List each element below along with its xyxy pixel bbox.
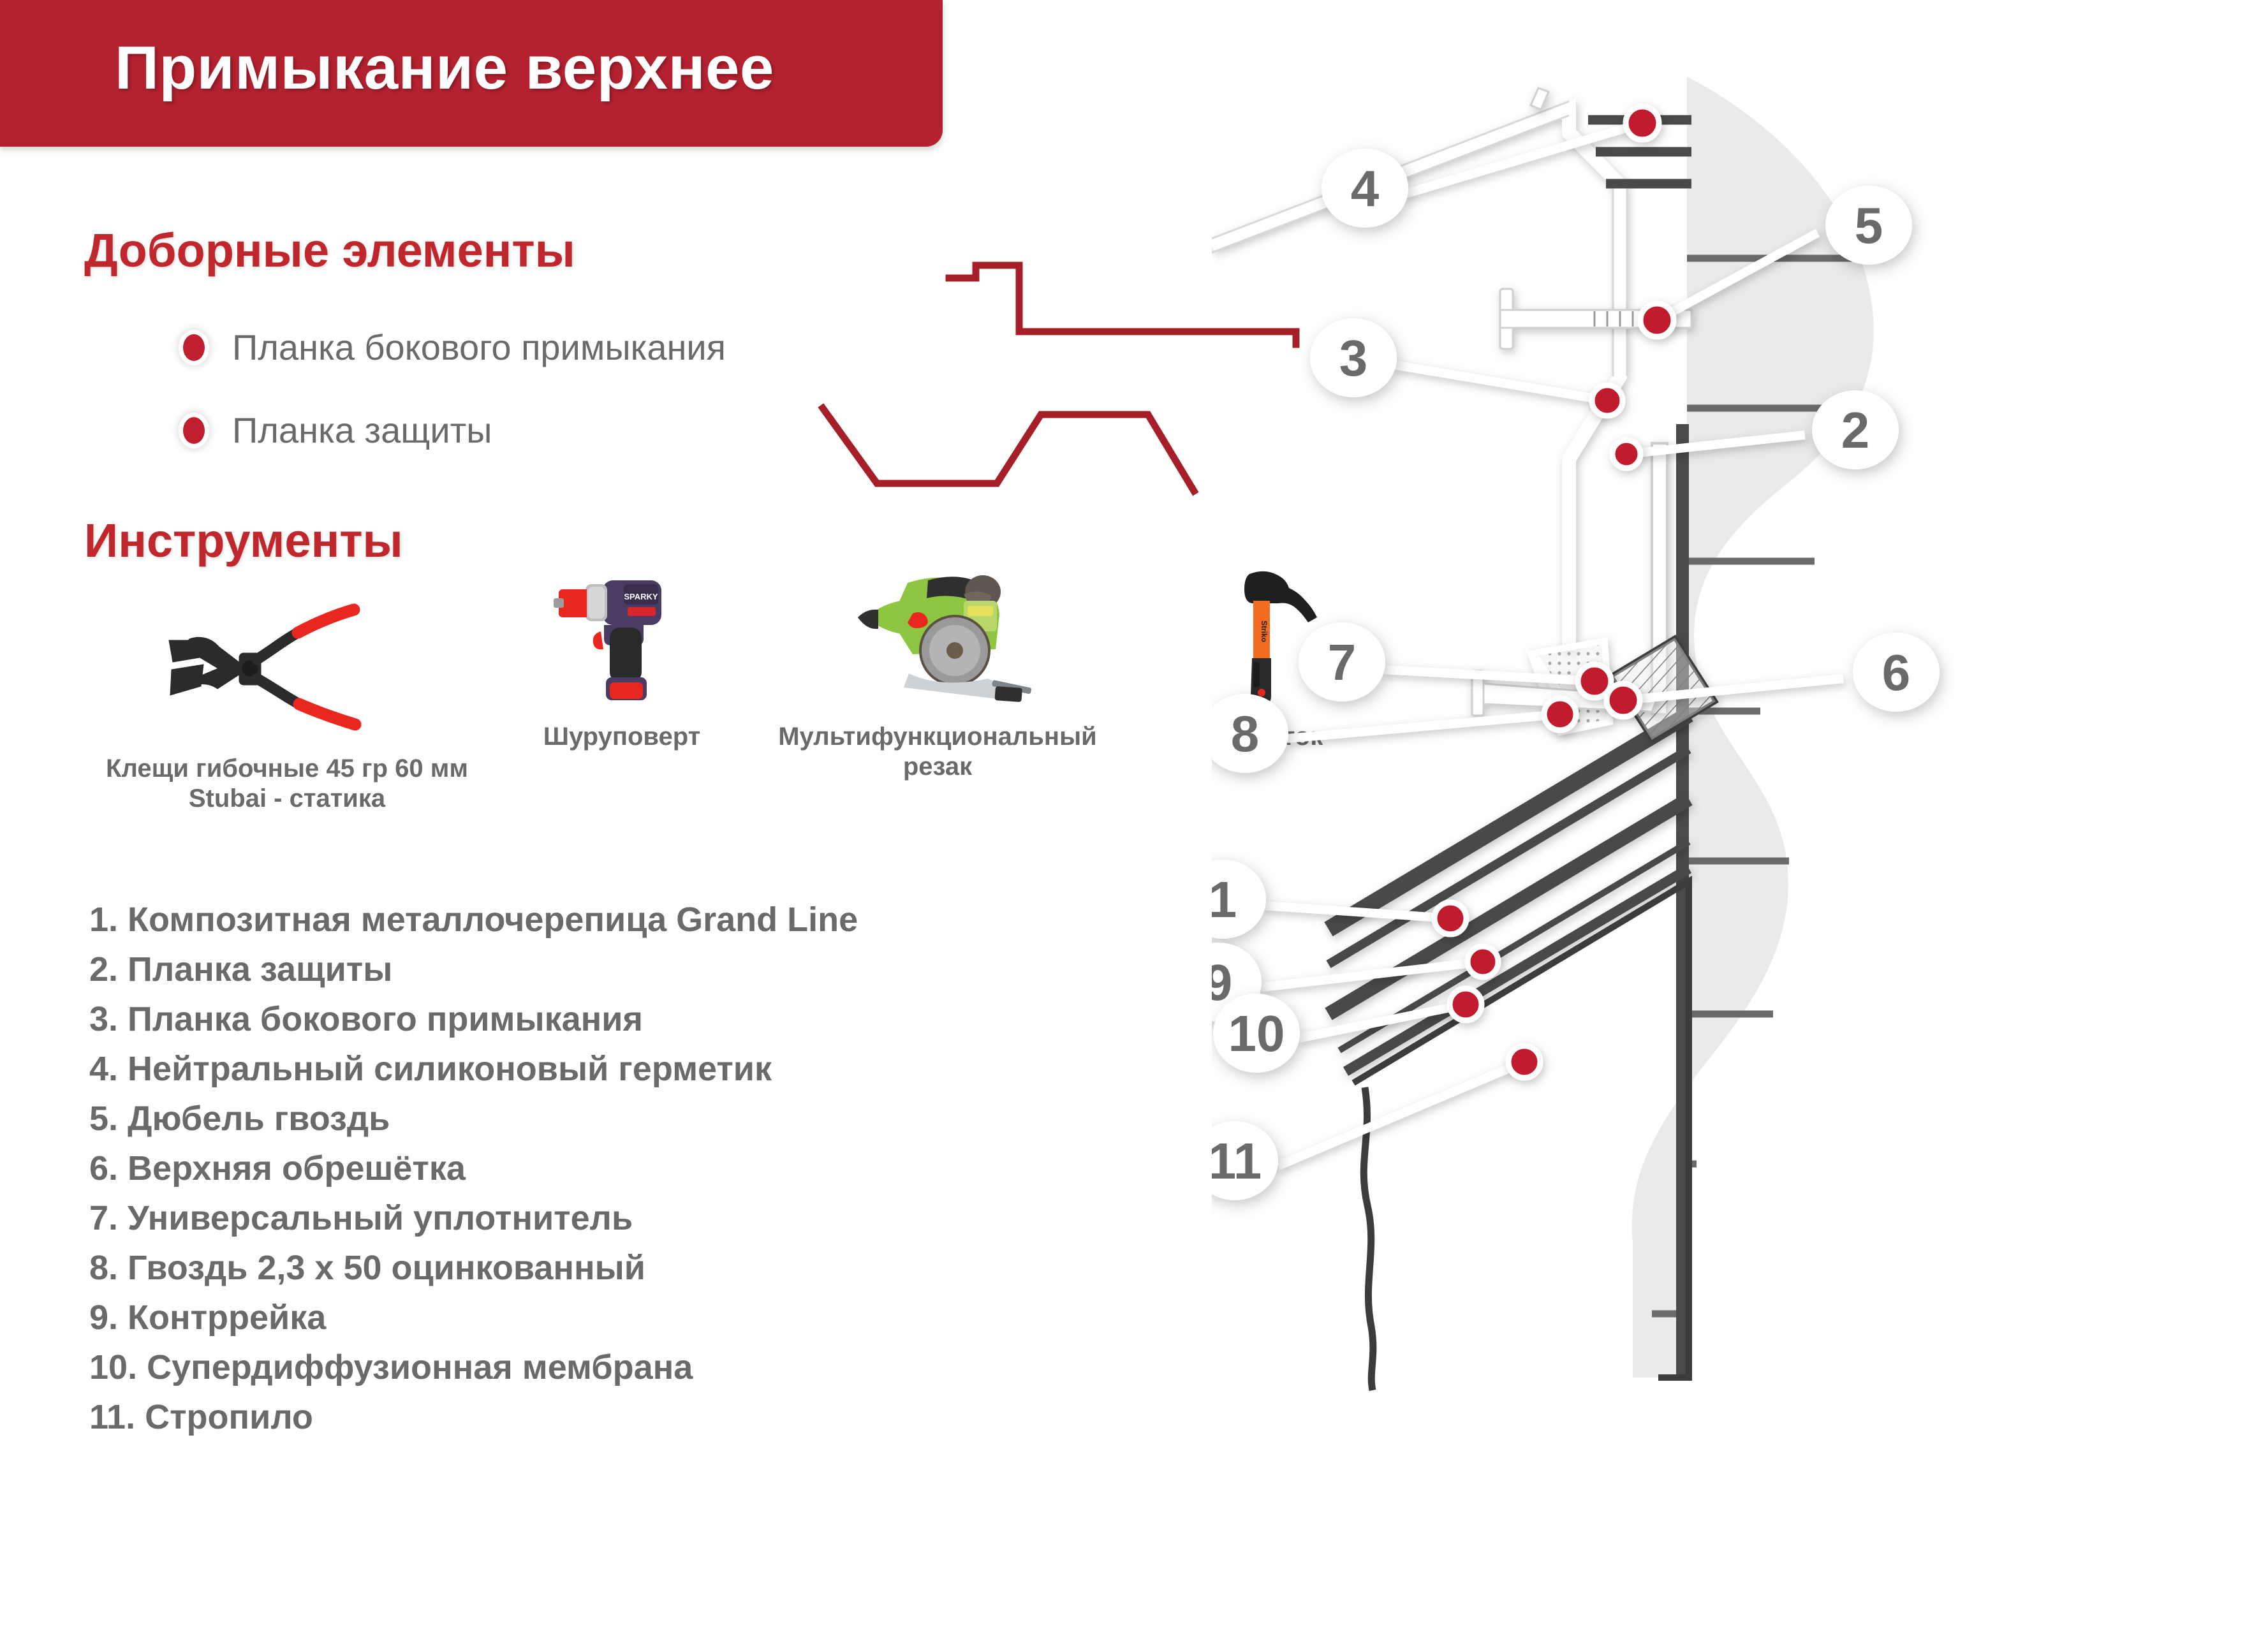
red-bullet-icon: [179, 413, 209, 448]
legend-item: 3. Планка бокового примыкания: [89, 1002, 858, 1036]
callout-number: 4: [1351, 160, 1380, 217]
callout-dot-11: [1508, 1046, 1540, 1078]
callout-dot-1: [1434, 902, 1466, 934]
tool-caption: Шуруповерт: [517, 722, 727, 752]
red-bullet-icon: [179, 330, 209, 365]
tool-card-2: Мультифункциональный резак: [740, 561, 1135, 782]
legend-item: 5. Дюбель гвоздь: [89, 1101, 858, 1136]
callout-6[interactable]: 6: [1853, 633, 1940, 712]
callout-number: 5: [1855, 197, 1883, 254]
callout-4[interactable]: 4: [1322, 149, 1408, 228]
cordless-drill-icon: SPARKY: [517, 561, 727, 708]
callout-5[interactable]: 5: [1825, 186, 1912, 265]
legend-item: 10. Супердиффузионная мембрана: [89, 1350, 858, 1385]
tool-caption: Мультифункциональный резак: [740, 722, 1135, 782]
tool-caption: Клещи гибочные 45 гр 60 мм Stubai - стат…: [64, 754, 510, 814]
callout-number: 3: [1339, 330, 1368, 386]
svg-text:SPARKY: SPARKY: [624, 592, 658, 601]
layer-metal-tile-under: [1329, 749, 1689, 964]
tool-caption-line2: Stubai - статика: [64, 784, 510, 814]
bending-pliers-icon: [64, 593, 510, 740]
callout-dot-8: [1544, 698, 1576, 730]
tool-caption-line1: Мультифункциональный: [740, 722, 1135, 752]
callout-dot-6: [1607, 684, 1640, 717]
dobor-item-label: Планка бокового примыкания: [232, 327, 726, 368]
callout-11[interactable]: 11: [1212, 1121, 1278, 1200]
legend-item: 2. Планка защиты: [89, 952, 858, 987]
section-heading-dobornye-elementy: Доборные элементы: [84, 223, 575, 277]
callout-8[interactable]: 8: [1212, 694, 1288, 773]
callout-number: 9: [1212, 954, 1232, 1011]
legend-item: 7. Универсальный уплотнитель: [89, 1201, 858, 1235]
callout-1[interactable]: 1: [1212, 860, 1266, 939]
callout-dot-2: [1612, 440, 1640, 468]
callout-number: 7: [1328, 634, 1357, 691]
circular-saw-icon: [740, 561, 1135, 708]
callout-number: 6: [1882, 644, 1911, 701]
legend-item: 8. Гвоздь 2,3 х 50 оцинкованный: [89, 1251, 858, 1285]
legend-item: 11. Стропило: [89, 1400, 858, 1434]
strip-hem-lip: [1531, 88, 1549, 110]
dobor-item-label: Планка защиты: [232, 409, 492, 451]
callout-dot-10: [1450, 989, 1482, 1020]
dobor-item-0: Планка бокового примыкания: [179, 327, 726, 368]
callout-number: 1: [1212, 871, 1237, 928]
callout-number: 10: [1228, 1005, 1285, 1062]
planka-zashchity-profile: [816, 402, 1263, 497]
legend-list: 1. Композитная металлочерепица Grand Lin…: [89, 902, 858, 1450]
callout-7[interactable]: 7: [1299, 622, 1385, 702]
legend-item: 4. Нейтральный силиконовый герметик: [89, 1052, 858, 1086]
callout-10[interactable]: 10: [1213, 994, 1300, 1073]
callout-dot-3: [1592, 385, 1623, 416]
tool-card-1: SPARKY Шуруповерт: [517, 561, 727, 752]
callout-2[interactable]: 2: [1812, 390, 1899, 469]
dobor-item-1: Планка защиты: [179, 409, 492, 451]
roof-wall-junction-diagram: 4 5 3 2 7 6 8 1: [1212, 77, 2268, 1562]
callout-number: 8: [1231, 705, 1260, 762]
page-title: Примыкание верхнее: [115, 33, 774, 103]
tool-caption-line2: резак: [740, 752, 1135, 782]
title-banner: Примыкание верхнее: [0, 0, 943, 147]
callout-dot-4: [1626, 107, 1659, 140]
legend-item: 6. Верхняя обрешётка: [89, 1151, 858, 1186]
callout-dot-9: [1468, 946, 1498, 977]
section-heading-instrumenty: Инструменты: [84, 513, 403, 568]
legend-item: 9. Контррейка: [89, 1300, 858, 1335]
tool-card-0: Клещи гибочные 45 гр 60 мм Stubai - стат…: [64, 593, 510, 814]
tool-caption-line1: Клещи гибочные 45 гр 60 мм: [64, 754, 510, 784]
callout-3[interactable]: 3: [1310, 318, 1397, 397]
callout-dot-5: [1640, 304, 1674, 337]
legend-item: 1. Композитная металлочерепица Grand Lin…: [89, 902, 858, 937]
tool-caption-line1: Шуруповерт: [517, 722, 727, 752]
callout-number: 2: [1841, 402, 1870, 459]
callout-number: 11: [1212, 1133, 1262, 1189]
